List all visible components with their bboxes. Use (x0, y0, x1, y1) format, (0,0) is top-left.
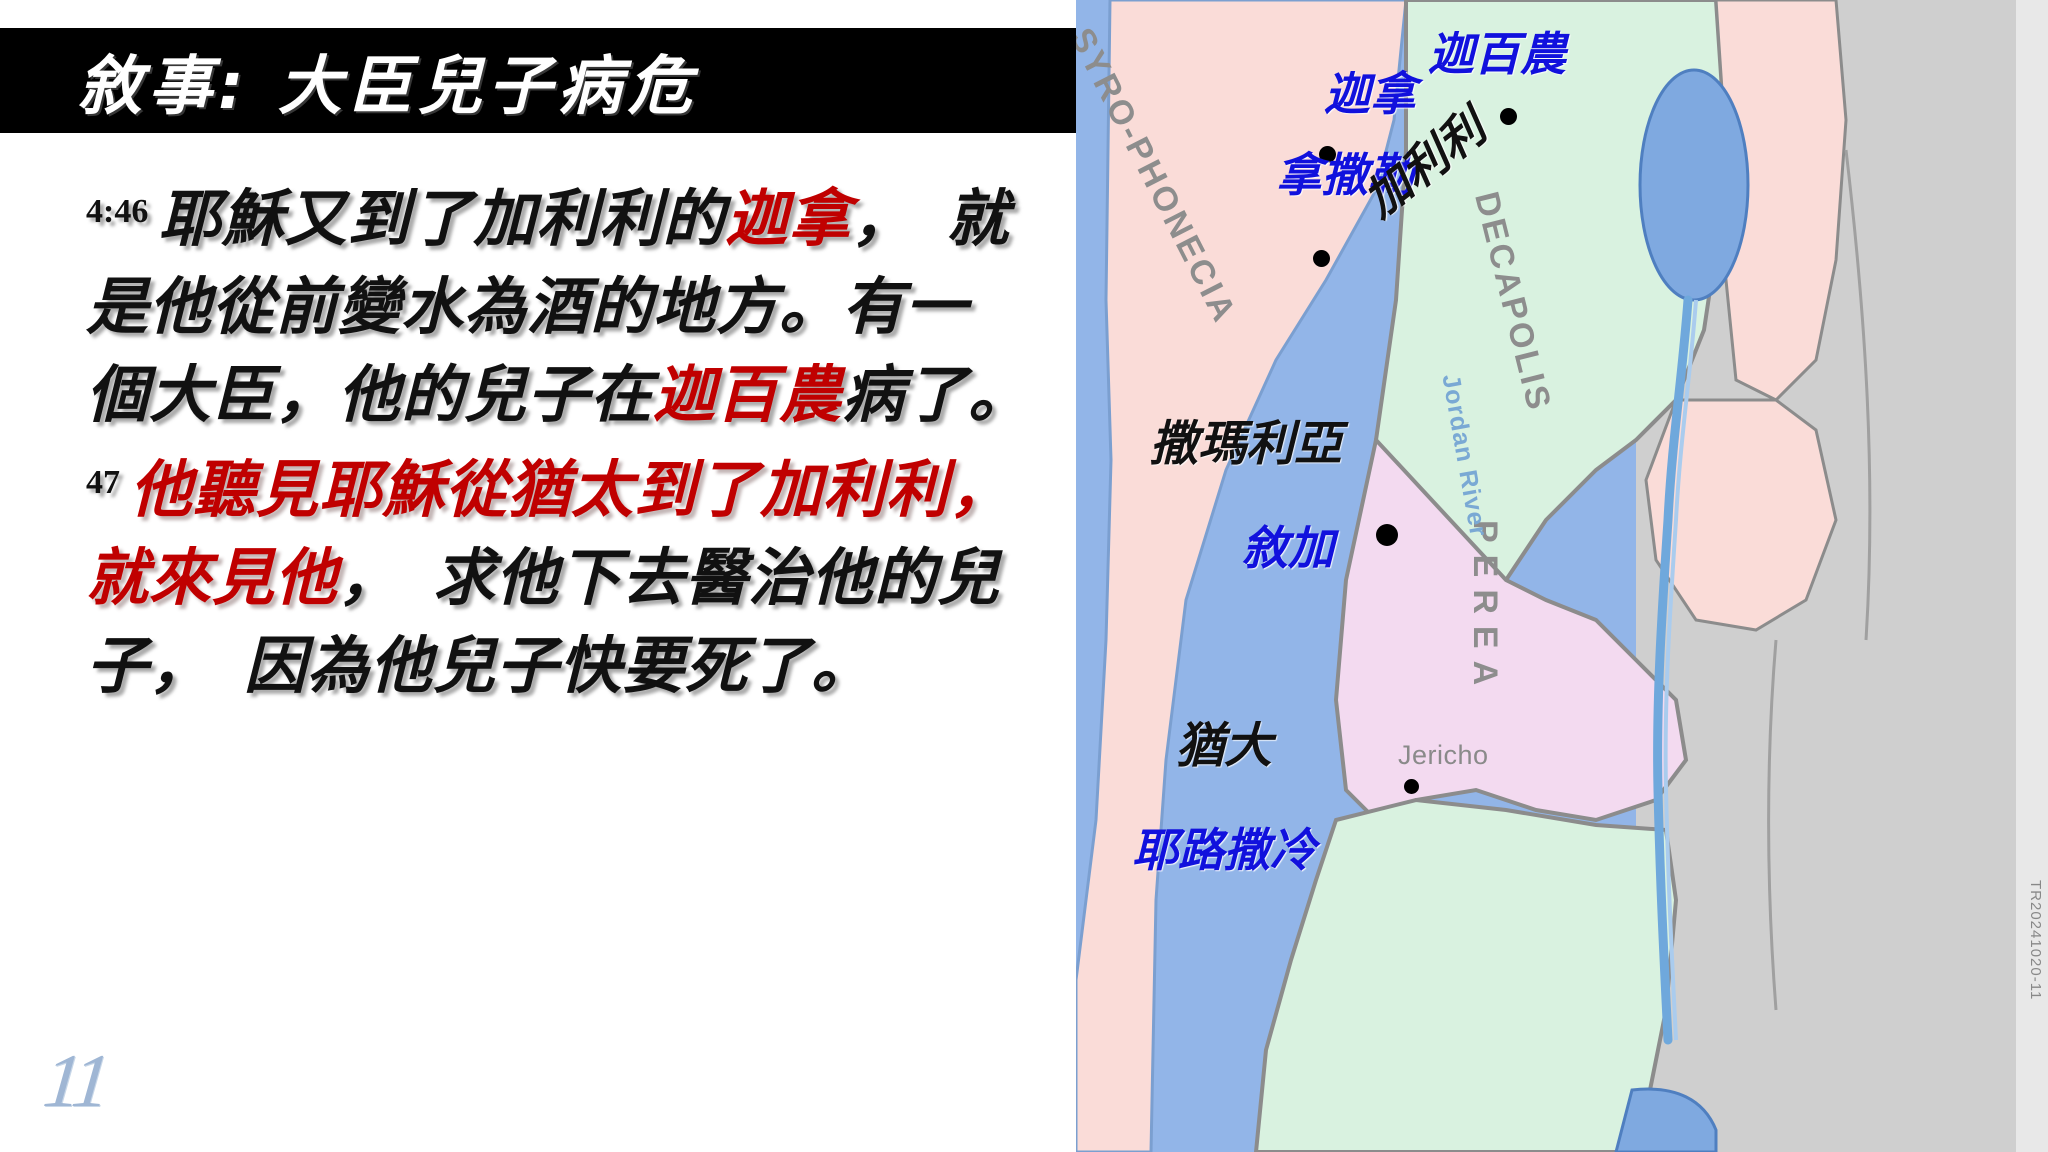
verse-number-47: 47 (86, 464, 120, 501)
page-title: 敘事: 大臣兒子病危 (78, 35, 698, 127)
verse-text-block: 4:46耶穌又到了加利利的迦拿， 就 是他從前變水為酒的地方。有一 個大臣，他的… (86, 168, 1046, 710)
verse-number-446: 4:46 (86, 193, 148, 230)
verse-seg-highlight-sentence: 他聽見耶穌從猶太到了加利利， (130, 453, 1012, 526)
verse-seg-text: 病了。 (842, 358, 1031, 431)
city-dot-capernaum (1500, 108, 1517, 125)
city-dot-jericho (1404, 779, 1419, 794)
map-illustration (1076, 0, 2048, 1152)
verse-seg-text: 耶穌又到了加利利的 (158, 182, 725, 255)
verse-seg-highlight-cana: 迦拿 (725, 182, 851, 255)
verse-line-1: 4:46耶穌又到了加利利的迦拿， 就 (86, 168, 1046, 263)
page-number: 11 (39, 1038, 111, 1125)
verse-line-3: 個大臣，他的兒子在迦百農病了。 (86, 351, 1046, 439)
verse-seg-text: ， 求他下去醫治他的兒 (338, 541, 1000, 614)
city-dot-cana (1319, 146, 1336, 163)
slide-canvas: 敘事: 大臣兒子病危 4:46耶穌又到了加利利的迦拿， 就 是他從前變水為酒的地… (0, 0, 2048, 1152)
verse-line-5: 就來見他， 求他下去醫治他的兒 (86, 534, 1046, 622)
verse-seg-highlight-capernaum: 迦百農 (653, 358, 842, 431)
sea-of-galilee (1640, 70, 1748, 300)
map-panel: 迦百農 迦拿 拿撒勒 敘加 耶路撒冷 加利利 撒瑪利亞 猶大 SYRO-PHON… (1076, 0, 2048, 1152)
verse-seg-text: 是他從前變水為酒的地方。有一 (86, 270, 968, 343)
city-dot-nazareth (1313, 250, 1330, 267)
verse-line-6: 子， 因為他兒子快要死了。 (86, 622, 1046, 710)
verse-seg-text: ， 就 (851, 182, 1009, 255)
verse-line-4: 47他聽見耶穌從猶太到了加利利， (86, 439, 1046, 534)
verse-seg-text: 子， 因為他兒子快要死了。 (86, 629, 874, 702)
verse-seg-text: 個大臣，他的兒子在 (86, 358, 653, 431)
verse-seg-highlight-came: 就來見他 (86, 541, 338, 614)
title-banner: 敘事: 大臣兒子病危 (0, 28, 1076, 133)
city-dot-sychar (1376, 524, 1398, 546)
map-watermark: TR20241020-11 (2027, 880, 2044, 1000)
verse-line-2: 是他從前變水為酒的地方。有一 (86, 263, 1046, 351)
